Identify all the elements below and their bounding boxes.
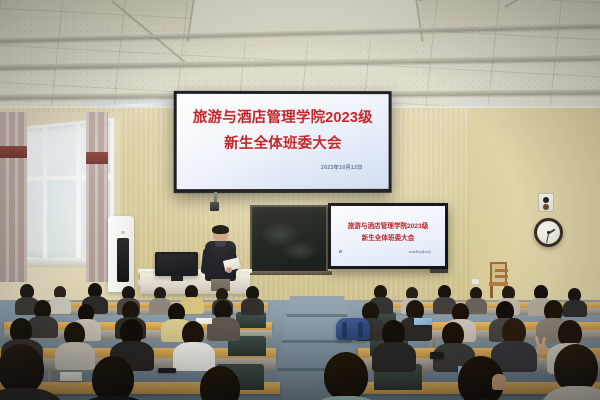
student-shoulders: [173, 342, 215, 371]
wall-socket-right: [471, 278, 480, 285]
slide-title-line-1: 旅游与酒店管理学院2023级: [177, 110, 389, 127]
student-shoulders: [55, 342, 95, 370]
student-shoulders: [49, 297, 71, 314]
presenter: [202, 226, 240, 288]
curtain-stripe: [86, 152, 108, 164]
podium-monitor-stand: [171, 276, 183, 281]
projection-screen-surface: 旅游与酒店管理学院2023级 新生全体班委大会 2023年10月12日: [177, 94, 389, 189]
secondary-slide-marker: [339, 250, 342, 253]
chair-slat: [495, 275, 508, 278]
palm: [492, 374, 506, 390]
raised-hand: [492, 372, 505, 390]
student-shoulders: [563, 300, 587, 317]
monitor-stand: [430, 269, 448, 273]
student-head: [0, 344, 44, 394]
phone-on-desk-2: [158, 368, 176, 373]
secondary-monitor[interactable]: 旅游与酒店管理学院2023级 新生全体班委大会 2023年10月12日: [328, 203, 448, 269]
wall-clock-icon: [534, 218, 563, 247]
student-shoulders: [372, 342, 416, 372]
ac-indicator: [121, 231, 125, 234]
air-conditioner: [108, 216, 134, 292]
classroom-photo: 旅游与酒店管理学院2023级 新生全体班委大会 2023年10月12日 旅游与酒…: [0, 0, 600, 400]
secondary-monitor-surface: 旅游与酒店管理学院2023级 新生全体班委大会 2023年10月12日: [331, 206, 445, 266]
blackboard: [250, 205, 328, 273]
secondary-slide-date: 2023年10月12日: [409, 250, 431, 254]
phone-on-desk: [430, 352, 444, 359]
backpack-strap: [358, 322, 363, 338]
clock-minute-hand: [546, 232, 549, 242]
chair-slat: [495, 269, 508, 272]
podium-monitor[interactable]: [155, 252, 198, 276]
student-shoulders: [241, 298, 264, 315]
window-mullion-vertical-1: [43, 127, 47, 258]
window-mullion-vertical-2: [76, 124, 81, 262]
slide-date: 2023年10月12日: [321, 164, 363, 171]
presenter-hand: [226, 267, 232, 273]
aisle-step: [284, 314, 350, 317]
aisle-step: [278, 340, 356, 343]
palm: [536, 344, 547, 354]
chair-leg: [490, 286, 493, 298]
wall-sensor-icon: [538, 193, 554, 212]
slide-title-line-2: 新生全体班委大会: [177, 136, 389, 153]
sensor-lens-upper: [543, 197, 549, 203]
ac-display-panel: [117, 238, 129, 282]
curtain-left: [0, 112, 27, 282]
secondary-slide-line-2: 新生全体班委大会: [331, 232, 445, 242]
chalk-smudge: [282, 241, 318, 261]
secondary-slide-line-1: 旅游与酒店管理学院2023级: [331, 220, 445, 230]
clock-center-pin: [547, 231, 549, 233]
curtain-middle: [86, 112, 108, 282]
chair-backrest: [490, 262, 507, 282]
screen-mount-box: [210, 202, 219, 211]
presenter-collar: [215, 241, 226, 247]
chalk-tray: [248, 271, 332, 275]
backpack: [336, 318, 370, 340]
curtain-stripe: [0, 146, 27, 158]
notebook-blue: [414, 318, 432, 325]
sensor-lens-lower: [543, 204, 549, 210]
presenter-hair: [212, 225, 229, 234]
projection-screen[interactable]: 旅游与酒店管理学院2023级 新生全体班委大会 2023年10月12日: [174, 91, 392, 192]
peace-sign-hand: [536, 336, 549, 354]
backpack-strap: [342, 322, 347, 338]
student-head: [554, 344, 598, 392]
slide-title-block: 旅游与酒店管理学院2023级 新生全体班委大会: [177, 110, 389, 152]
podium-monitor-screen: [157, 254, 196, 272]
notebook: [60, 372, 82, 381]
student-head: [92, 356, 134, 400]
